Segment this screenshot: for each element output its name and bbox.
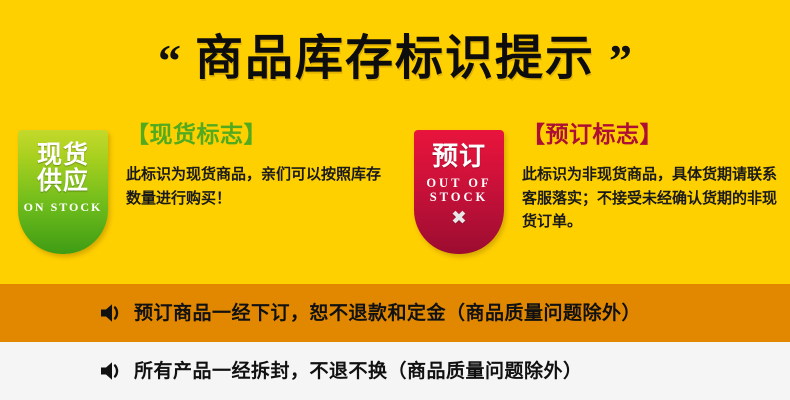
section-pre-order: 预订 OUT OF STOCK ✖ 【预订标志】 此标识为非现货商品，具体货期请… [394,112,790,284]
notice-bar-pre-order: 预订商品一经下订，恕不退款和定金（商品质量问题除外） [0,284,790,342]
pre-order-heading: 【预订标志】 [522,124,790,147]
in-stock-badge-en: ON STOCK [24,201,103,215]
page-title-text: 商品库存标识提示 [195,34,595,82]
in-stock-description: 此标识为现货商品，亲们可以按照库存数量进行购买！ [126,163,388,210]
stock-notice-banner: “ 商品库存标识提示 ” 现货 供应 ON STOCK 【现货标志】 此标识为现… [0,0,790,400]
badge-sections: 现货 供应 ON STOCK 【现货标志】 此标识为现货商品，亲们可以按照库存数… [0,112,790,284]
close-quote-mark: ” [609,38,632,84]
pre-order-badge-cn: 预订 [432,144,486,171]
pre-order-badge-en-line1: OUT OF [426,176,491,190]
in-stock-text-block: 【现货标志】 此标识为现货商品，亲们可以按照库存数量进行购买！ [108,112,388,210]
pre-order-badge-en: OUT OF STOCK [426,176,491,205]
in-stock-badge-cn-line1: 现货 [37,140,89,169]
section-in-stock: 现货 供应 ON STOCK 【现货标志】 此标识为现货商品，亲们可以按照库存数… [0,112,394,284]
notice-text-opened: 所有产品一经拆封，不退不换（商品质量问题除外） [134,362,583,381]
notice-bar-opened: 所有产品一经拆封，不退不换（商品质量问题除外） [0,342,790,400]
speaker-icon [100,302,124,324]
speaker-icon [100,360,124,382]
pre-order-badge: 预订 OUT OF STOCK ✖ [414,130,504,254]
in-stock-badge: 现货 供应 ON STOCK [18,130,108,254]
title-row: “ 商品库存标识提示 ” [158,32,632,80]
page-title: “ 商品库存标识提示 ” [0,0,790,112]
in-stock-badge-cn-line2: 供应 [37,168,89,194]
pre-order-text-block: 【预订标志】 此标识为非现货商品，具体货期请联系客服落实；不接受未经确认货期的非… [504,112,790,234]
in-stock-heading: 【现货标志】 [126,124,388,147]
pre-order-description: 此标识为非现货商品，具体货期请联系客服落实；不接受未经确认货期的非现货订单。 [522,163,790,234]
cross-mark-icon: ✖ [451,209,467,228]
open-quote-mark: “ [158,38,181,84]
in-stock-badge-cn: 现货 供应 [37,142,89,194]
pre-order-badge-en-line2: STOCK [426,190,491,204]
notice-text-pre-order: 预订商品一经下订，恕不退款和定金（商品质量问题除外） [134,304,641,323]
